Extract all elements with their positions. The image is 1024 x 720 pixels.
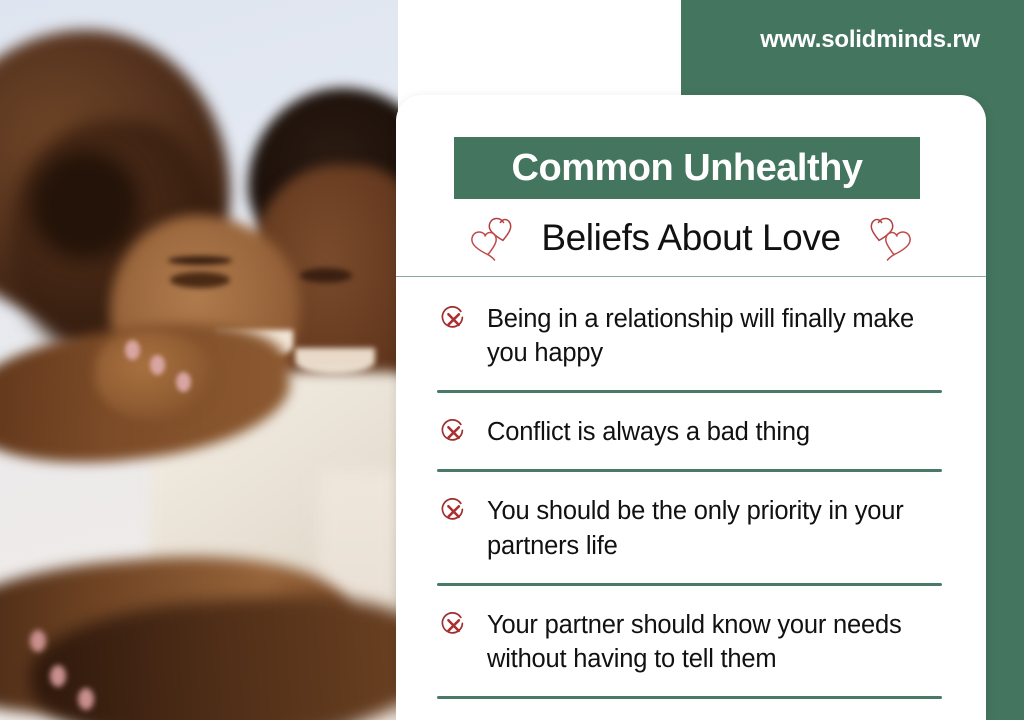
circle-x-icon — [440, 306, 467, 333]
photo-fingernail — [176, 372, 191, 392]
subtitle-row: Beliefs About Love — [396, 207, 986, 269]
list-item-text: Being in a relationship will finally mak… — [487, 302, 950, 370]
list-item-text: You should be the only priority in your … — [487, 494, 950, 562]
photo-hair-shadow — [30, 150, 140, 260]
photo-man-smile — [295, 348, 375, 374]
poster-root: www.solidminds.rw Common Unhealthy Belie… — [0, 0, 1024, 720]
circle-x-icon — [440, 612, 467, 639]
list-item-text: Your partner should know your needs with… — [487, 608, 950, 676]
list-item: Your partner should know your needs with… — [396, 586, 986, 676]
list-divider — [437, 696, 942, 699]
photo-fingernail — [30, 630, 46, 652]
circle-x-icon — [440, 498, 467, 525]
page-subtitle: Beliefs About Love — [541, 217, 840, 259]
photo-woman-eye — [170, 272, 230, 288]
photo-fingernail — [125, 340, 140, 360]
circle-x-icon — [440, 419, 467, 446]
photo-fingernail — [78, 688, 94, 710]
photo-woman-brow — [168, 256, 232, 265]
page-title: Common Unhealthy — [512, 147, 863, 190]
photo-woman-hand — [95, 330, 215, 420]
photo-fingernail — [50, 665, 66, 687]
title-banner: Common Unhealthy — [454, 137, 920, 199]
list-item-text: Conflict is always a bad thing — [487, 415, 810, 449]
list-item: Conflict is always a bad thing — [396, 393, 986, 449]
photo-man-eye — [300, 268, 352, 283]
header-divider — [396, 276, 986, 277]
list-item: Being in a relationship will finally mak… — [396, 280, 986, 370]
list-item: You should be the only priority in your … — [396, 472, 986, 562]
site-url-label: www.solidminds.rw — [760, 26, 980, 54]
content-card: Common Unhealthy Beliefs About Love — [396, 95, 986, 720]
beliefs-list: Being in a relationship will finally mak… — [396, 280, 986, 699]
photo-fingernail — [150, 355, 165, 375]
double-heart-outline-icon — [471, 215, 523, 261]
couple-embracing-photo — [0, 0, 398, 720]
double-heart-outline-icon — [859, 215, 911, 261]
